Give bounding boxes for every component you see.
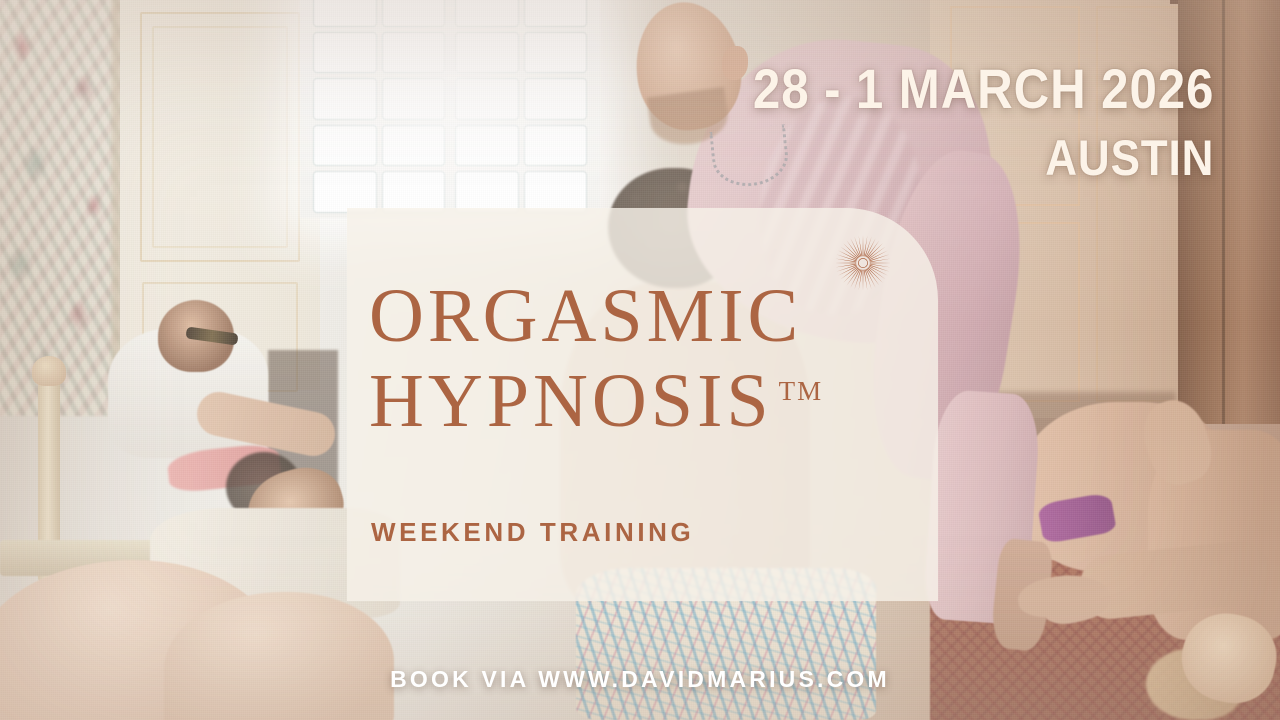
- event-poster: 28 - 1 MARCH 2026 AUSTIN ORGASMIC HYPNOS…: [0, 0, 1280, 720]
- event-title: ORGASMIC HYPNOSISTM: [369, 274, 918, 444]
- event-dates: 28 - 1 MARCH 2026: [753, 62, 1214, 116]
- event-date-block: 28 - 1 MARCH 2026 AUSTIN: [690, 62, 1214, 182]
- wall-moulding: [152, 26, 288, 248]
- title-line-1: ORGASMIC: [369, 274, 918, 359]
- trademark-symbol: TM: [779, 376, 824, 406]
- booking-url: BOOK VIA WWW.DAVIDMARIUS.COM: [0, 666, 1280, 693]
- event-subtitle: WEEKEND TRAINING: [371, 517, 694, 548]
- title-line-2: HYPNOSISTM: [369, 359, 918, 444]
- wardrobe-seam: [1222, 0, 1225, 424]
- title-card: ORGASMIC HYPNOSISTM WEEKEND TRAINING: [347, 208, 938, 601]
- event-city: AUSTIN: [753, 134, 1214, 182]
- bed-post-finial: [32, 356, 66, 386]
- title-line-2-text: HYPNOSIS: [369, 359, 773, 443]
- floral-tapestry: [0, 0, 122, 416]
